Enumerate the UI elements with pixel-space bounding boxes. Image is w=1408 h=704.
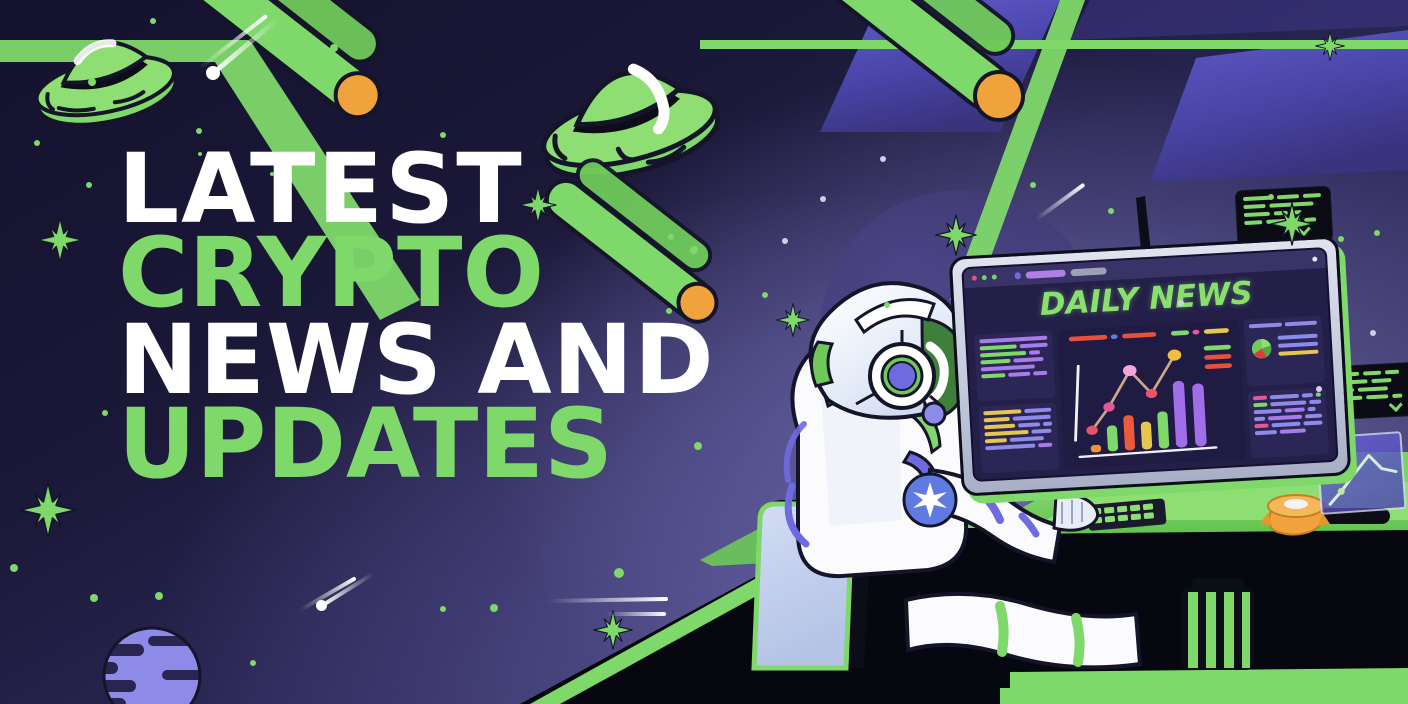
monitor-screen[interactable]: DAILY NEWS [961,247,1338,482]
news-item-bar [980,344,1018,350]
check-icon [1389,398,1403,412]
alert-item-bar [984,417,1010,422]
feed-item-bar [1253,403,1267,408]
check-icon [1297,222,1311,236]
feed-item-bar [1254,417,1265,422]
chrome-dot-0[interactable] [972,276,977,281]
alerts-list-card[interactable] [978,402,1060,473]
feed-item-bar [1270,400,1306,406]
code-token [1277,194,1299,199]
feed-item-bar [1285,407,1305,412]
code-line [1335,369,1408,377]
striped-planet [92,618,212,704]
allocation-legend-bar [1278,334,1318,340]
code-token [1363,371,1381,376]
news-item-bar [1013,357,1043,363]
comet-green-top-right [930,0,1290,170]
allocation-legend-bar [1278,342,1318,348]
code-token [1269,201,1313,207]
feed-item-bar [1302,393,1313,398]
feed-item-bar [1255,430,1277,435]
alert-item-bar [1013,415,1051,421]
chrome-dot-1[interactable] [982,275,987,280]
feed-item-bar [1315,393,1321,397]
code-token [1266,218,1300,224]
code-token [1244,212,1270,217]
allocation-header-bar [1284,321,1317,327]
feed-item-bar [1268,415,1302,421]
feed-item-bar [1271,422,1300,428]
feed-list-card[interactable] [1248,387,1330,458]
code-token [1385,370,1399,375]
alert-item-bar [984,430,1028,436]
code-token [1303,193,1321,198]
code-token [1243,204,1265,209]
feed-item-row [1255,427,1323,435]
page-title: LATEST CRYPTO NEWS AND UPDATES [118,145,738,488]
feed-item-bar [1305,413,1322,418]
alert-item-bar [1038,443,1052,448]
chrome-address-bar[interactable] [1070,267,1106,276]
charts-svg [1057,320,1246,469]
code-line [1243,201,1323,209]
alert-item-bar [1018,422,1040,427]
feed-item-bar [1309,399,1322,404]
chrome-flex [1112,260,1308,271]
code-token [1292,210,1302,215]
feed-item-bar [1254,409,1282,415]
news-item-bar [1029,350,1040,355]
allocation-pie-chart [1249,331,1274,366]
code-token [1358,386,1388,392]
code-token [1392,394,1402,399]
news-item-bar [981,373,1005,378]
dashboard-body [974,315,1329,473]
code-token [1274,211,1288,216]
alert-item-bar [1010,436,1044,442]
chrome-active-tab[interactable] [1026,270,1066,279]
code-line [1244,217,1324,225]
alert-item-bar [983,409,1021,415]
alert-item-bar [1024,408,1051,413]
allocation-legend-bar [1278,350,1318,356]
feed-item-bar [1270,394,1299,400]
news-item-bar [1008,372,1030,377]
alert-item-bar [1031,429,1051,434]
alert-item-bar [984,424,1016,430]
news-item-row [981,371,1049,379]
feed-item-bar [1253,396,1267,401]
alert-item-bar [985,444,1035,451]
news-item-bar [980,351,1026,358]
feed-item-bar [1303,420,1323,425]
charts-card[interactable] [1057,320,1246,469]
alert-item-bar [985,438,1007,443]
news-item-bar [981,364,1035,371]
alert-item-row [985,443,1053,451]
ufo-saucer-large [24,20,184,140]
illustration-canvas: LATEST CRYPTO NEWS AND UPDATES DAILY NEW… [0,0,1408,704]
alert-item-bar [1043,422,1052,426]
chrome-menu-dot[interactable] [1312,256,1317,261]
news-item-bar [1033,371,1047,376]
feed-item-bar [1308,407,1316,411]
code-line [1243,193,1323,201]
dashboard-left-column [974,330,1060,473]
news-list-card[interactable] [974,330,1056,401]
code-line [1244,209,1324,217]
feed-item-bar [1280,428,1306,433]
green-canisters [1182,578,1254,670]
monitor[interactable]: DAILY NEWS [949,235,1352,496]
news-item-bar [980,359,1010,365]
news-item-bar [1020,343,1048,349]
chrome-tab-indicator-dot[interactable] [1015,272,1021,279]
code-token [1243,196,1273,202]
allocation-header-bar [1249,323,1282,329]
code-token [1304,217,1316,222]
code-token [1244,220,1262,225]
chrome-dot-2[interactable] [992,274,997,279]
code-token [1366,394,1388,399]
allocation-card[interactable] [1244,315,1326,386]
dashboard-right-column [1244,315,1330,458]
code-token [1371,378,1391,383]
feed-item-bar [1254,424,1268,429]
